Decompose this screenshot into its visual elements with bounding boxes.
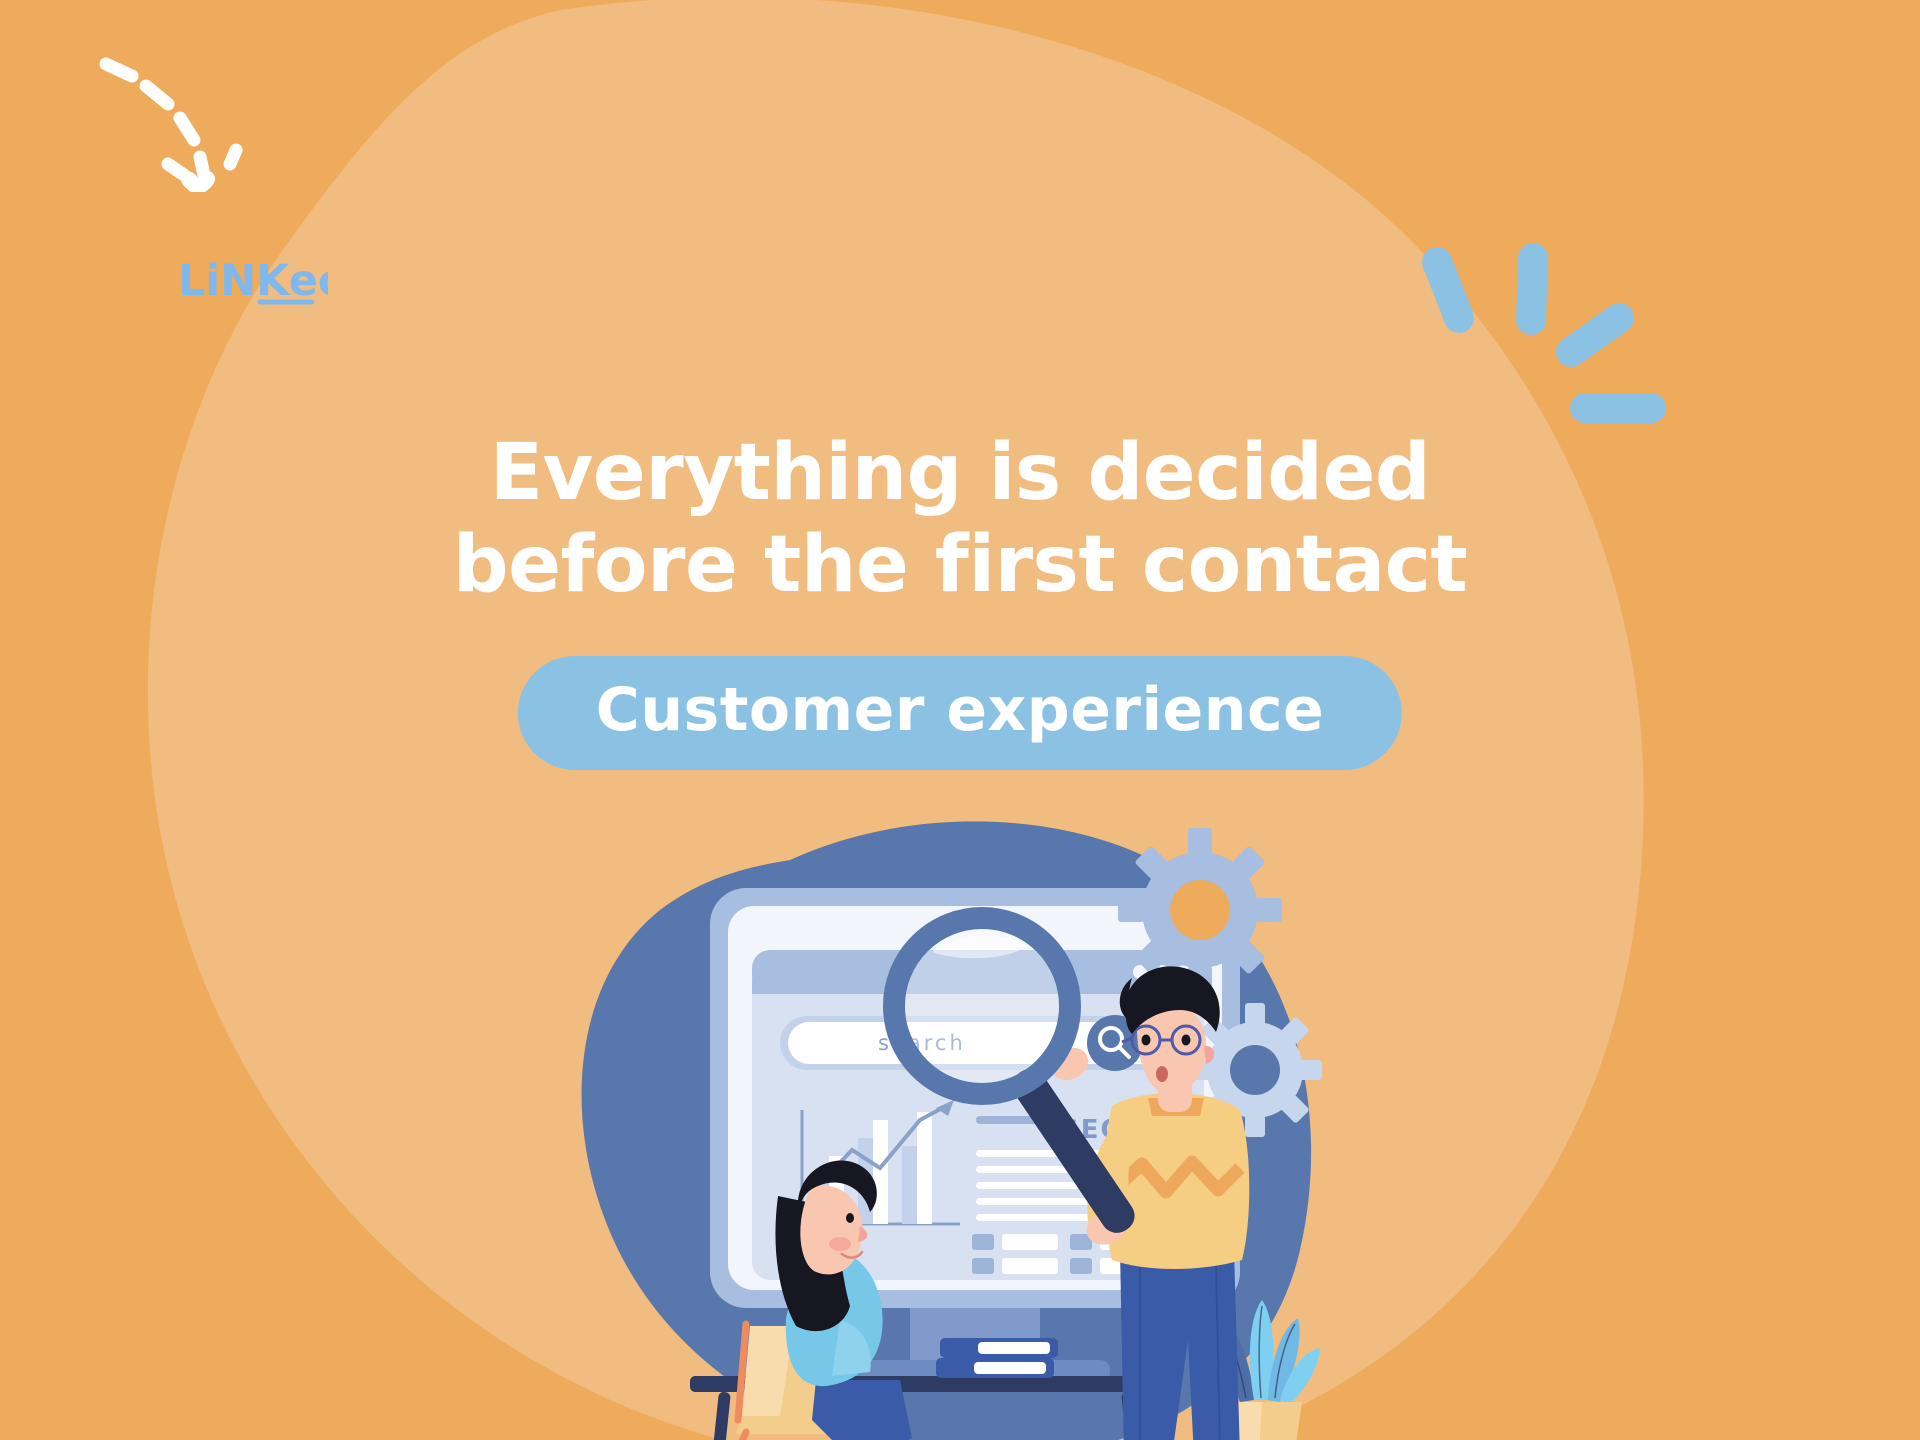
sunburst-rays-icon [1415, 240, 1675, 460]
headline-line-1: Everything is decided [370, 434, 1550, 512]
linkeo-logo[interactable]: LiNKeo [178, 252, 328, 312]
dashed-arc-with-heart-icon [96, 42, 296, 192]
headline-line-2: before the first contact [370, 526, 1550, 604]
seo-search-illustration: search SE [540, 820, 1500, 1440]
social-card-canvas: LiNKeo Everything is decided before the … [0, 0, 1920, 1440]
page-title: Everything is decided before the first c… [370, 434, 1550, 604]
customer-experience-badge[interactable]: Customer experience [518, 656, 1402, 770]
logo-text: LiNKeo [178, 256, 328, 306]
book-stack [936, 1338, 1058, 1378]
